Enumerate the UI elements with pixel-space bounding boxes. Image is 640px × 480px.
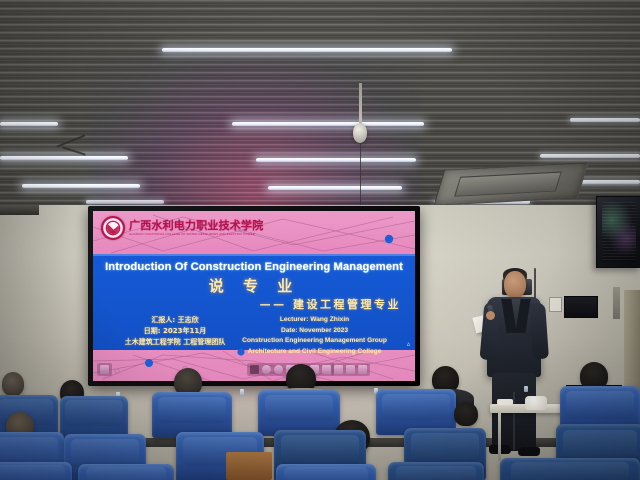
auditorium-seat[interactable] — [0, 462, 72, 480]
led-display-screen[interactable]: 广西水利电力职业技术学院 GUANGXI VOCATIONAL COLLEGE … — [88, 206, 420, 386]
hanging-wire — [360, 143, 361, 209]
presenter-hand — [486, 311, 495, 320]
close-icon[interactable] — [358, 365, 367, 374]
select-icon[interactable] — [274, 365, 283, 374]
slide-corner-mark: ∆ — [407, 342, 410, 348]
ceiling-light-fixture — [22, 184, 140, 188]
wall-mount-bracket — [0, 205, 39, 215]
audience-head — [2, 372, 24, 396]
ceiling-light-fixture — [540, 154, 640, 158]
meta-en-line: Lecturer: Wang Zhixin — [222, 315, 407, 326]
lecture-hall-screenshot: 广西水利电力职业技术学院 GUANGXI VOCATIONAL COLLEGE … — [0, 0, 640, 480]
meta-en-line: Architecture and Civil Engineering Colle… — [222, 347, 407, 358]
slide-subtitle-cn: —— 建设工程管理专业 — [260, 296, 401, 312]
institution-name-cn: 广西水利电力职业技术学院 — [129, 220, 263, 231]
display-toolbar-right[interactable] — [331, 363, 370, 376]
menu-icon[interactable] — [334, 365, 343, 374]
white-bag — [525, 396, 547, 410]
slide-meta-en: Lecturer: Wang Zhixin Date: November 202… — [222, 315, 407, 357]
table-item — [497, 399, 513, 405]
university-seal-icon — [101, 216, 125, 240]
seat-cup-holder — [524, 386, 528, 392]
auditorium-seat[interactable] — [78, 464, 174, 480]
ceiling-light-fixture — [0, 156, 128, 160]
pen-icon[interactable] — [250, 365, 259, 374]
back-arrow-icon[interactable] — [100, 365, 109, 374]
power-outlet-icon — [549, 297, 562, 312]
presenter-shoe — [518, 447, 540, 456]
slide-title-en: Introduction Of Construction Engineering… — [93, 261, 415, 273]
grid-icon[interactable] — [346, 365, 355, 374]
slide-title-cn: 说 专 业 — [93, 275, 415, 296]
ceiling-light-fixture — [268, 186, 402, 190]
ceiling-light-fixture — [86, 200, 164, 204]
ceiling-light-fixture — [570, 118, 640, 122]
ceiling — [0, 0, 640, 212]
presentation-slide[interactable]: 广西水利电力职业技术学院 GUANGXI VOCATIONAL COLLEGE … — [93, 211, 415, 381]
auditorium-seat[interactable] — [276, 464, 376, 480]
wall-fixture — [613, 287, 620, 319]
table-leg — [498, 413, 501, 461]
wooden-panel — [226, 452, 272, 480]
ceiling-light-fixture — [232, 122, 424, 126]
wall-speaker-icon — [596, 196, 640, 268]
seat-cup-holder — [240, 389, 244, 395]
audience-head — [454, 402, 478, 426]
institution-logo: 广西水利电力职业技术学院 GUANGXI VOCATIONAL COLLEGE … — [101, 216, 263, 240]
institution-name-en: GUANGXI VOCATIONAL COLLEGE OF WATER RESO… — [129, 233, 263, 236]
auditorium-seat[interactable] — [500, 458, 640, 480]
ceiling-light-fixture — [0, 122, 58, 126]
auditorium-seat[interactable] — [388, 462, 484, 480]
ceiling-light-fixture — [256, 158, 416, 162]
ceiling-light-fixture — [162, 48, 452, 52]
presenter-leg-split — [513, 392, 515, 450]
meta-en-line: Construction Engineering Management Grou… — [222, 336, 407, 347]
meta-en-line: Date: November 2023 — [222, 326, 407, 337]
control-box-icon — [564, 296, 598, 318]
eraser-icon[interactable] — [262, 365, 271, 374]
pendant-lamp-icon — [353, 123, 367, 143]
display-toolbar-left[interactable] — [97, 363, 112, 376]
save-icon[interactable] — [322, 365, 331, 374]
